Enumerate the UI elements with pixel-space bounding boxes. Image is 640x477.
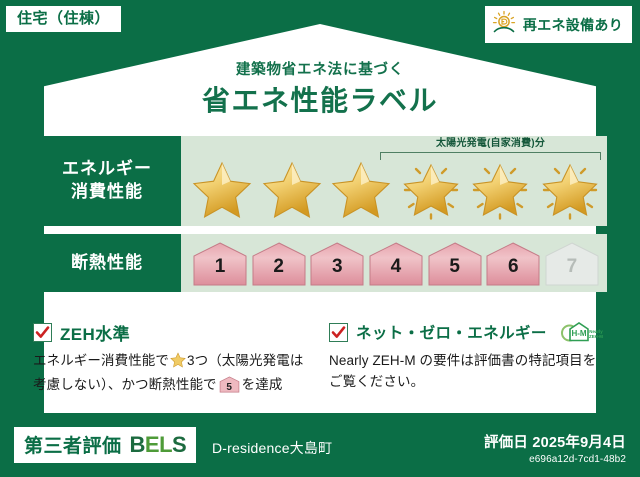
energy-label-line1: エネルギー — [62, 158, 152, 181]
bels-badge-jp: 第三者評価 — [24, 431, 122, 458]
insulation-level-badge: 3 — [308, 241, 366, 287]
star-solar-icon — [469, 159, 531, 221]
insulation-level-number: 7 — [543, 256, 601, 278]
insulation-level-number: 1 — [191, 256, 249, 278]
insulation-level-badge: 6 — [484, 241, 542, 287]
criterion-zeh-text-1: エネルギー消費性能で — [33, 353, 169, 368]
solar-annotation-text: 太陽光発電(自家消費)分 — [380, 138, 601, 150]
dwelling-type-text: 住宅（住棟） — [17, 10, 110, 27]
evaluation-info: 評価日 2025年9月4日 e696a12d-7cd1-48b2 — [484, 431, 626, 465]
evaluation-id: e696a12d-7cd1-48b2 — [484, 454, 626, 465]
insulation-rating-area: 1 2 3 — [181, 234, 607, 292]
criterion-nze-header: ネット・ゼロ・エネルギー H-M Nearly ZEH-M — [329, 320, 607, 344]
sun-icon — [491, 10, 517, 39]
zeh-m-house-logo-icon: H-M Nearly ZEH-M — [559, 320, 605, 344]
insulation-level-number: 4 — [367, 256, 425, 278]
renewable-equipment-chip: 再エネ設備あり — [485, 6, 632, 43]
insulation-level-number: 2 — [250, 256, 308, 278]
bels-letter-el: EL — [145, 432, 172, 457]
star-solar-icon — [539, 159, 601, 221]
criteria-section: ZEH水準 エネルギー消費性能で3つ（太陽光発電は考慮しない）、かつ断熱性能で5… — [33, 320, 607, 396]
insulation-level-number-inline: 5 — [219, 380, 240, 396]
insulation-level-badge-inline: 5 — [219, 376, 240, 393]
star-icon — [191, 159, 253, 221]
criterion-zeh: ZEH水準 エネルギー消費性能で3つ（太陽光発電は考慮しない）、かつ断熱性能で5… — [33, 320, 311, 396]
criterion-nze-title: ネット・ゼロ・エネルギー — [356, 321, 547, 343]
insulation-performance-row: 断熱性能 1 — [33, 234, 607, 292]
performance-rows: エネルギー 消費性能 太陽光発電(自家消費)分 — [33, 136, 607, 292]
criterion-zeh-text-4: を達成 — [242, 377, 283, 392]
energy-performance-row: エネルギー 消費性能 太陽光発電(自家消費)分 — [33, 136, 607, 226]
insulation-level-number: 5 — [426, 256, 484, 278]
star-icon — [170, 352, 186, 375]
energy-performance-label: エネルギー 消費性能 — [33, 136, 181, 226]
insulation-level-scale: 1 2 3 — [191, 239, 601, 288]
svg-text:ZEH-M: ZEH-M — [589, 334, 603, 339]
label-title: 省エネ性能ラベル — [0, 79, 640, 119]
label-footer: 第三者評価 BELS D-residence大島町 評価日 2025年9月4日 … — [0, 413, 640, 477]
bels-badge-en: BELS — [130, 432, 187, 458]
star-solar-icon — [400, 159, 462, 221]
insulation-label-text: 断熱性能 — [71, 252, 143, 275]
star-rating — [191, 157, 601, 223]
criterion-zeh-text-2: 3つ（太陽光発電 — [187, 353, 290, 368]
building-name: D-residence大島町 — [212, 438, 332, 458]
insulation-level-badge: 1 — [191, 241, 249, 287]
renewable-chip-label: 再エネ設備あり — [523, 18, 623, 32]
label-subtitle: 建築物省エネ法に基づく — [0, 58, 640, 79]
criterion-net-zero-energy: ネット・ゼロ・エネルギー H-M Nearly ZEH-M Nearly ZEH… — [329, 320, 607, 396]
energy-label-line2: 消費性能 — [71, 181, 143, 204]
star-icon — [330, 159, 392, 221]
checkbox-checked-icon[interactable] — [329, 323, 348, 342]
insulation-level-badge: 5 — [426, 241, 484, 287]
bels-letter-s: S — [172, 432, 186, 457]
bels-letter-b: B — [130, 432, 145, 457]
energy-performance-label: 住宅（住棟） 再エネ設備あり 建築物省エネ法に基づく 省エ — [0, 0, 640, 477]
insulation-level-badge-inactive: 7 — [543, 241, 601, 287]
star-icon — [261, 159, 323, 221]
evaluation-date: 評価日 2025年9月4日 — [484, 431, 626, 452]
checkbox-checked-icon[interactable] — [33, 323, 52, 342]
insulation-level-number: 3 — [308, 256, 366, 278]
insulation-level-number: 6 — [484, 256, 542, 278]
energy-rating-area: 太陽光発電(自家消費)分 — [181, 136, 607, 226]
insulation-level-badge: 4 — [367, 241, 425, 287]
criterion-zeh-title: ZEH水準 — [60, 320, 130, 345]
dwelling-type-chip: 住宅（住棟） — [6, 6, 121, 32]
criterion-zeh-header: ZEH水準 — [33, 320, 311, 344]
criterion-zeh-body: エネルギー消費性能で3つ（太陽光発電は考慮しない）、かつ断熱性能で5を達成 — [33, 351, 311, 396]
insulation-level-badge: 2 — [250, 241, 308, 287]
bels-badge: 第三者評価 BELS — [14, 427, 196, 463]
insulation-performance-label: 断熱性能 — [33, 234, 181, 292]
svg-text:H-M: H-M — [571, 329, 586, 338]
criterion-nze-body: Nearly ZEH-M の要件は評価書の特記項目をご覧ください。 — [329, 351, 607, 393]
